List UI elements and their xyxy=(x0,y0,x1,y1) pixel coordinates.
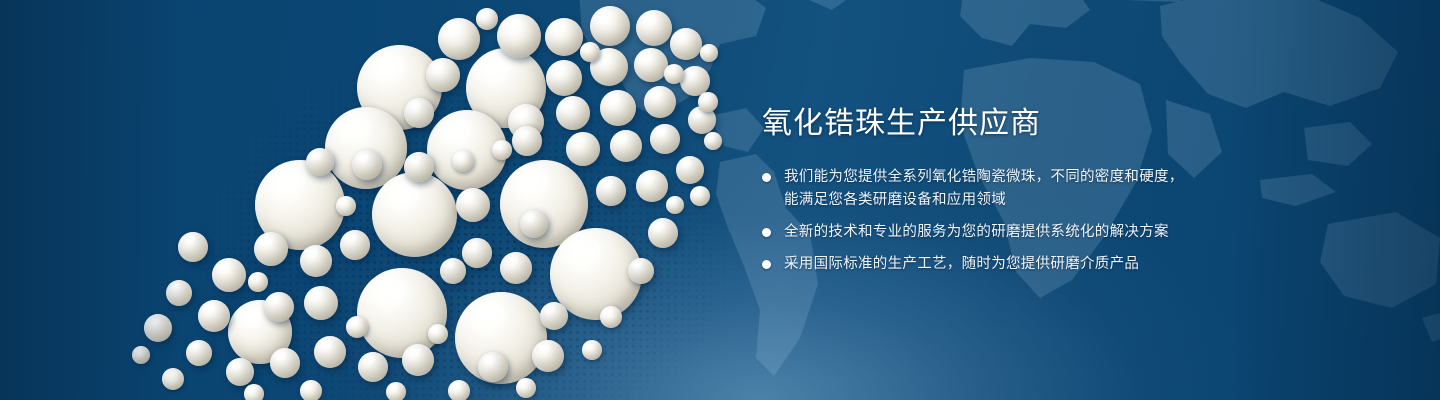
bullet-dot-icon xyxy=(762,228,771,237)
list-item-label: 我们能为您提供全系列氧化锆陶瓷微珠，不同的密度和硬度， 能满足您各类研磨设备和应… xyxy=(784,166,1184,212)
page-title: 氧化锆珠生产供应商 xyxy=(762,104,1282,144)
list-item-label: 采用国际标准的生产工艺，随时为您提供研磨介质产品 xyxy=(784,253,1139,276)
list-item-label: 全新的技术和专业的服务为您的研磨提供系统化的解决方案 xyxy=(784,221,1169,244)
hero-banner: 氧化锆珠生产供应商 我们能为您提供全系列氧化锆陶瓷微珠，不同的密度和硬度， 能满… xyxy=(0,0,1440,400)
list-item: 我们能为您提供全系列氧化锆陶瓷微珠，不同的密度和硬度， 能满足您各类研磨设备和应… xyxy=(762,166,1282,212)
feature-list: 我们能为您提供全系列氧化锆陶瓷微珠，不同的密度和硬度， 能满足您各类研磨设备和应… xyxy=(762,166,1282,276)
list-item: 全新的技术和专业的服务为您的研磨提供系统化的解决方案 xyxy=(762,221,1282,244)
banner-content: 氧化锆珠生产供应商 我们能为您提供全系列氧化锆陶瓷微珠，不同的密度和硬度， 能满… xyxy=(762,104,1282,276)
list-item: 采用国际标准的生产工艺，随时为您提供研磨介质产品 xyxy=(762,253,1282,276)
bullet-dot-icon xyxy=(762,260,771,269)
bullet-dot-icon xyxy=(762,173,771,182)
